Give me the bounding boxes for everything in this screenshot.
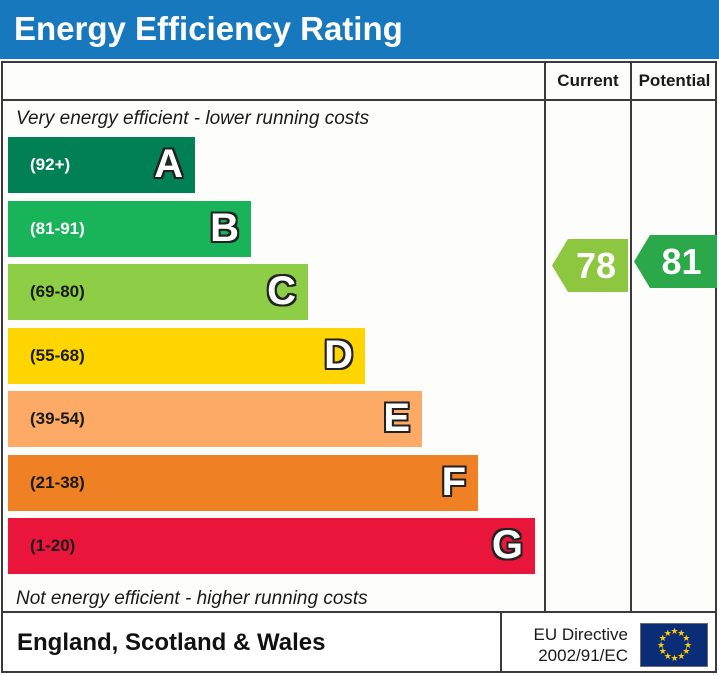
band-letter-label: A xyxy=(154,144,183,184)
rating-band-b: (81-91)B xyxy=(8,201,251,257)
rating-band-a: (92+)A xyxy=(8,137,195,193)
current-rating-badge: 78 xyxy=(552,239,628,292)
band-range-label: (39-54) xyxy=(30,409,85,429)
current-rating-value: 78 xyxy=(564,248,616,284)
band-range-label: (21-38) xyxy=(30,473,85,493)
chart-footer: England, Scotland & Wales EU Directive 2… xyxy=(1,613,717,673)
rating-band-c: (69-80)C xyxy=(8,264,308,320)
band-letter-label: D xyxy=(324,335,353,375)
band-range-label: (55-68) xyxy=(30,346,85,366)
rating-band-d: (55-68)D xyxy=(8,328,365,384)
potential-rating-badge: 81 xyxy=(634,235,717,288)
column-header-current: Current xyxy=(546,63,630,99)
footer-directive-line2: 2002/91/EC xyxy=(538,646,628,665)
column-divider-potential xyxy=(630,61,632,613)
column-header-rule xyxy=(1,99,717,101)
caption-bottom: Not energy efficient - higher running co… xyxy=(16,588,368,610)
band-letter-label: B xyxy=(210,208,239,248)
column-header-potential: Potential xyxy=(632,63,717,99)
band-range-label: (1-20) xyxy=(30,536,75,556)
chart-header-bar: Energy Efficiency Rating xyxy=(0,0,719,59)
band-letter-label: F xyxy=(442,462,466,502)
footer-divider xyxy=(500,613,502,673)
footer-directive-label: EU Directive 2002/91/EC xyxy=(523,624,628,666)
band-letter-label: C xyxy=(267,271,296,311)
band-range-label: (81-91) xyxy=(30,219,85,239)
caption-top: Very energy efficient - lower running co… xyxy=(16,108,369,130)
page-title: Energy Efficiency Rating xyxy=(14,7,403,51)
rating-band-g: (1-20)G xyxy=(8,518,535,574)
band-letter-label: G xyxy=(492,525,523,565)
rating-band-f: (21-38)F xyxy=(8,455,478,511)
footer-directive-line1: EU Directive xyxy=(534,625,628,644)
rating-band-e: (39-54)E xyxy=(8,391,422,447)
energy-efficiency-rating-chart: Energy Efficiency Rating Current Potenti… xyxy=(0,0,719,675)
band-range-label: (69-80) xyxy=(30,282,85,302)
potential-rating-value: 81 xyxy=(649,244,701,280)
eu-flag-icon: ★★★★★★★★★★★★ xyxy=(640,623,708,667)
footer-region-label: England, Scotland & Wales xyxy=(17,629,325,657)
eu-flag-star: ★ xyxy=(664,630,671,637)
band-range-label: (92+) xyxy=(30,155,70,175)
column-divider-current xyxy=(544,61,546,613)
band-letter-label: E xyxy=(383,398,410,438)
